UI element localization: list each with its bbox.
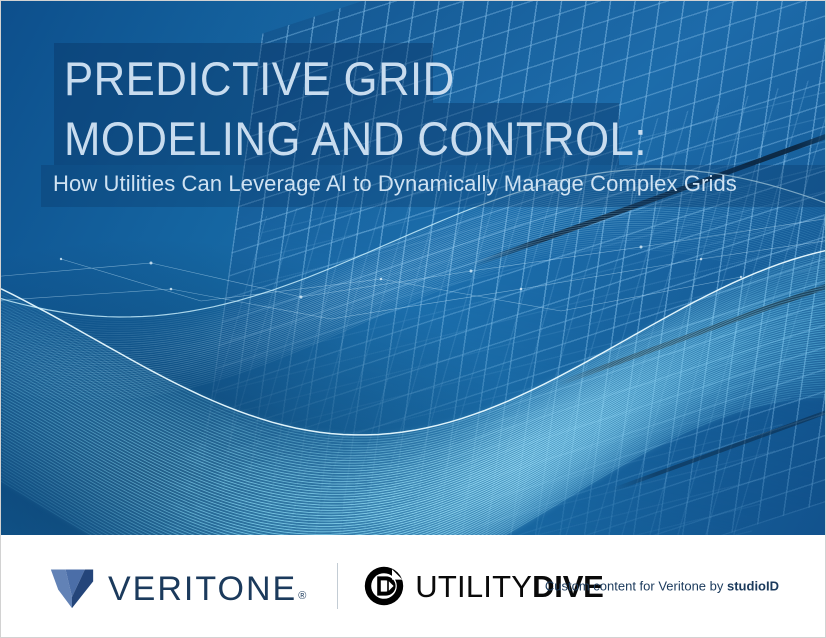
veritone-wordmark: VERITONE® bbox=[108, 572, 307, 606]
veritone-logo[interactable]: VERITONE® bbox=[49, 563, 307, 609]
wireframe-wave-graphic bbox=[1, 151, 826, 535]
page-title-line-1: PREDICTIVE GRID bbox=[64, 51, 455, 106]
page-subtitle: How Utilities Can Leverage AI to Dynamic… bbox=[53, 171, 737, 197]
hero-image: PREDICTIVE GRID MODELING AND CONTROL: Ho… bbox=[1, 1, 826, 535]
logo-divider bbox=[337, 563, 338, 609]
registered-mark-icon: ® bbox=[298, 590, 308, 602]
brand-row: VERITONE® UTILITYDIVE bbox=[1, 563, 604, 609]
credit-brand: studioID bbox=[727, 579, 779, 594]
report-cover-page: PREDICTIVE GRID MODELING AND CONTROL: Ho… bbox=[0, 0, 826, 638]
page-title-line-2: MODELING AND CONTROL: bbox=[64, 111, 647, 166]
credit-prefix: Custom content for Veritone by bbox=[545, 579, 727, 594]
veritone-v-mark-icon bbox=[49, 563, 95, 609]
footer-bar: VERITONE® UTILITYDIVE Custom content for… bbox=[1, 535, 826, 637]
credit-text: Custom content for Veritone by studioID bbox=[545, 579, 779, 594]
utility-dive-circle-mark-icon bbox=[364, 566, 404, 606]
